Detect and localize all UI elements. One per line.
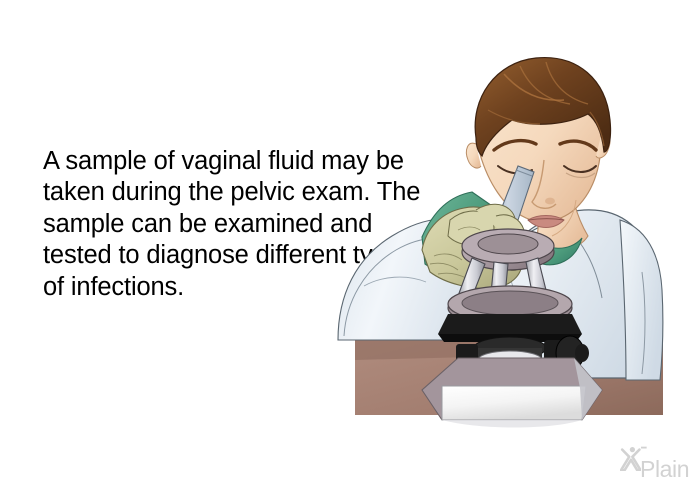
logo-text: -Plain bbox=[640, 435, 696, 480]
slide-canvas: A sample of vaginal fluid may be taken d… bbox=[0, 0, 700, 480]
microscope-base bbox=[422, 358, 602, 428]
person-x-icon bbox=[620, 446, 641, 471]
illustration-lab-technician-at-microscope bbox=[330, 40, 700, 430]
xplain-logo: -Plain bbox=[620, 443, 696, 473]
lab-coat-right-side bbox=[620, 220, 663, 380]
